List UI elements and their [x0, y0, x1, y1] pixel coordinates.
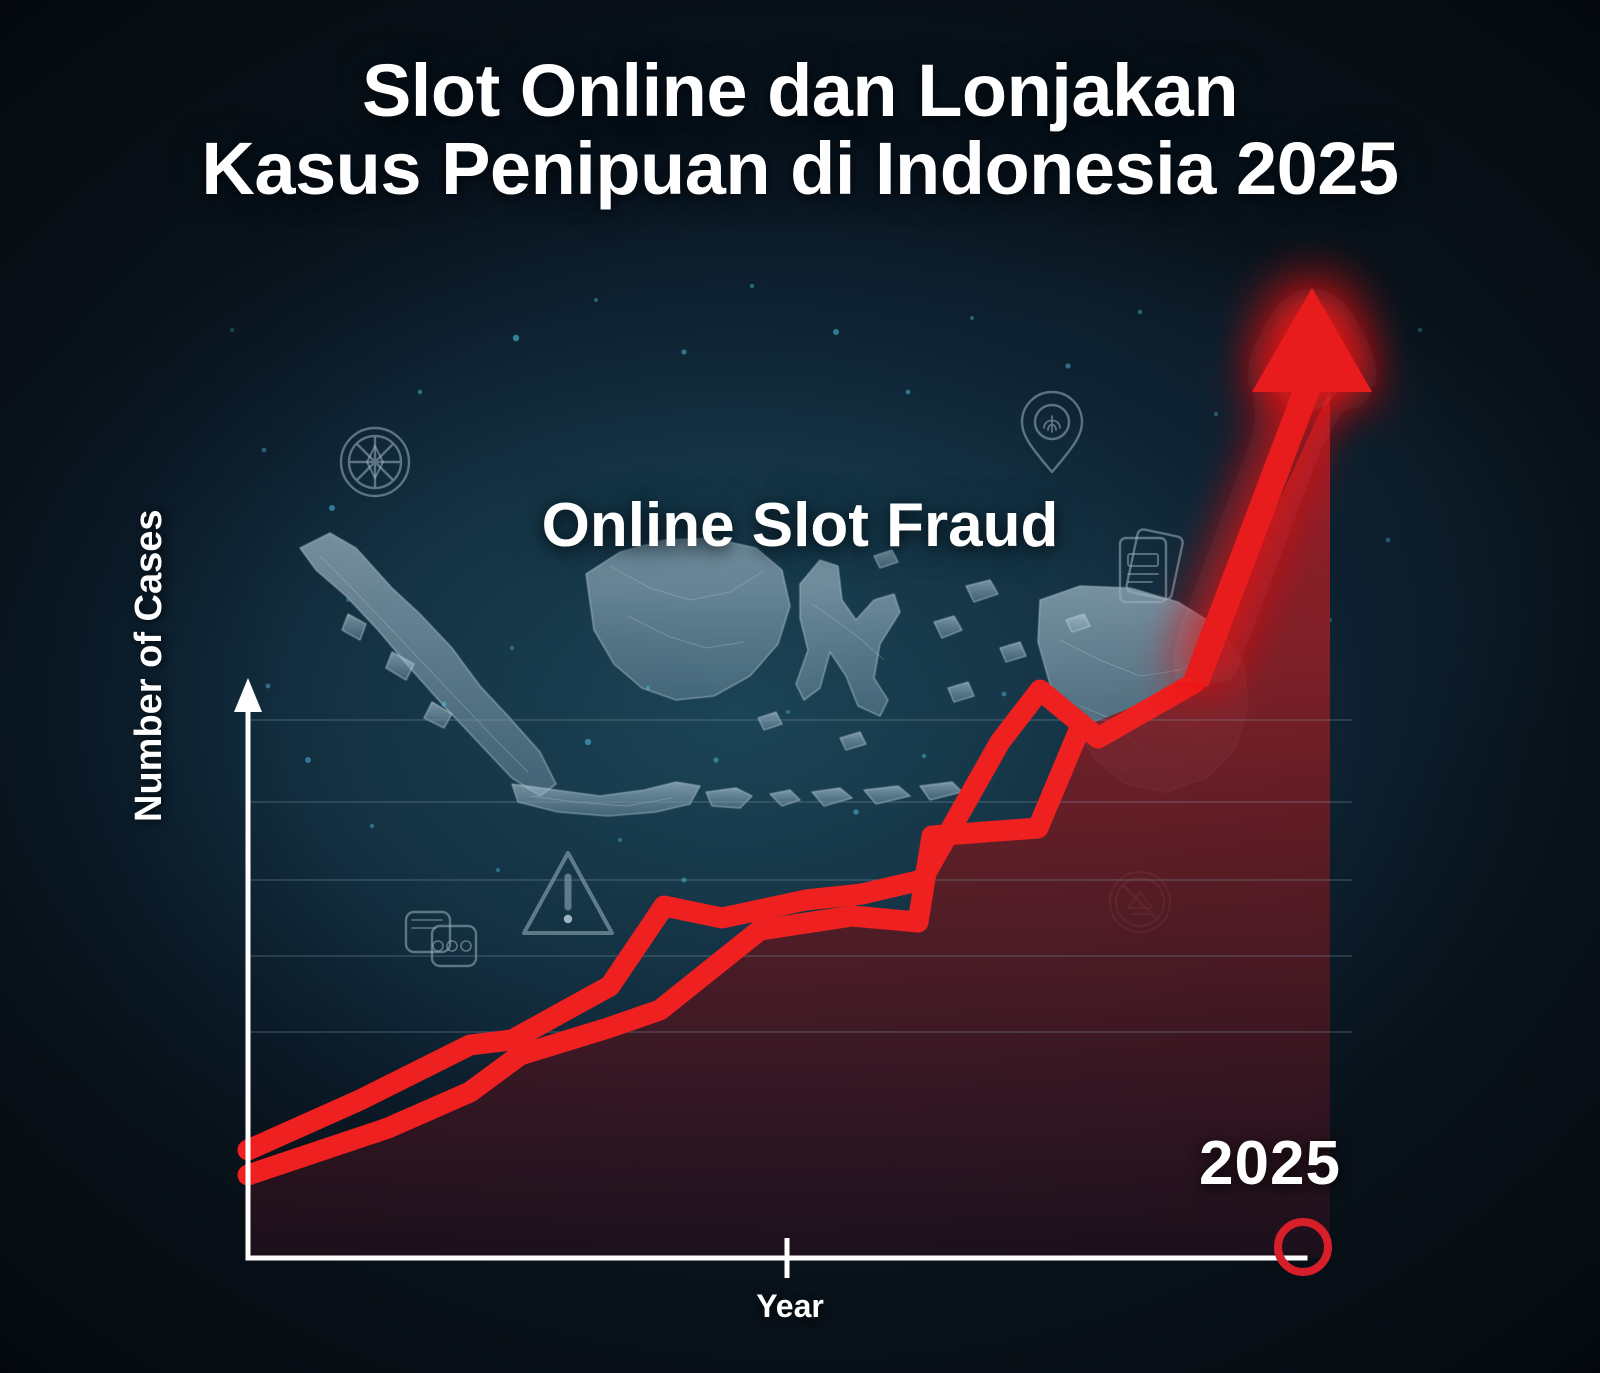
- year-callout: 2025: [1155, 1128, 1385, 1199]
- infographic-canvas: Slot Online dan Lonjakan Kasus Penipuan …: [0, 0, 1600, 1373]
- headline-block: Slot Online dan Lonjakan Kasus Penipuan …: [0, 52, 1600, 209]
- x-axis-label: Year: [690, 1288, 890, 1325]
- chart-overlay-title: Online Slot Fraud: [0, 490, 1600, 561]
- headline-line-2: Kasus Penipuan di Indonesia 2025: [0, 130, 1600, 208]
- y-axis-arrowhead: [234, 678, 262, 712]
- headline-line-1: Slot Online dan Lonjakan: [0, 52, 1600, 130]
- y-axis-label: Number of Cases: [128, 482, 171, 822]
